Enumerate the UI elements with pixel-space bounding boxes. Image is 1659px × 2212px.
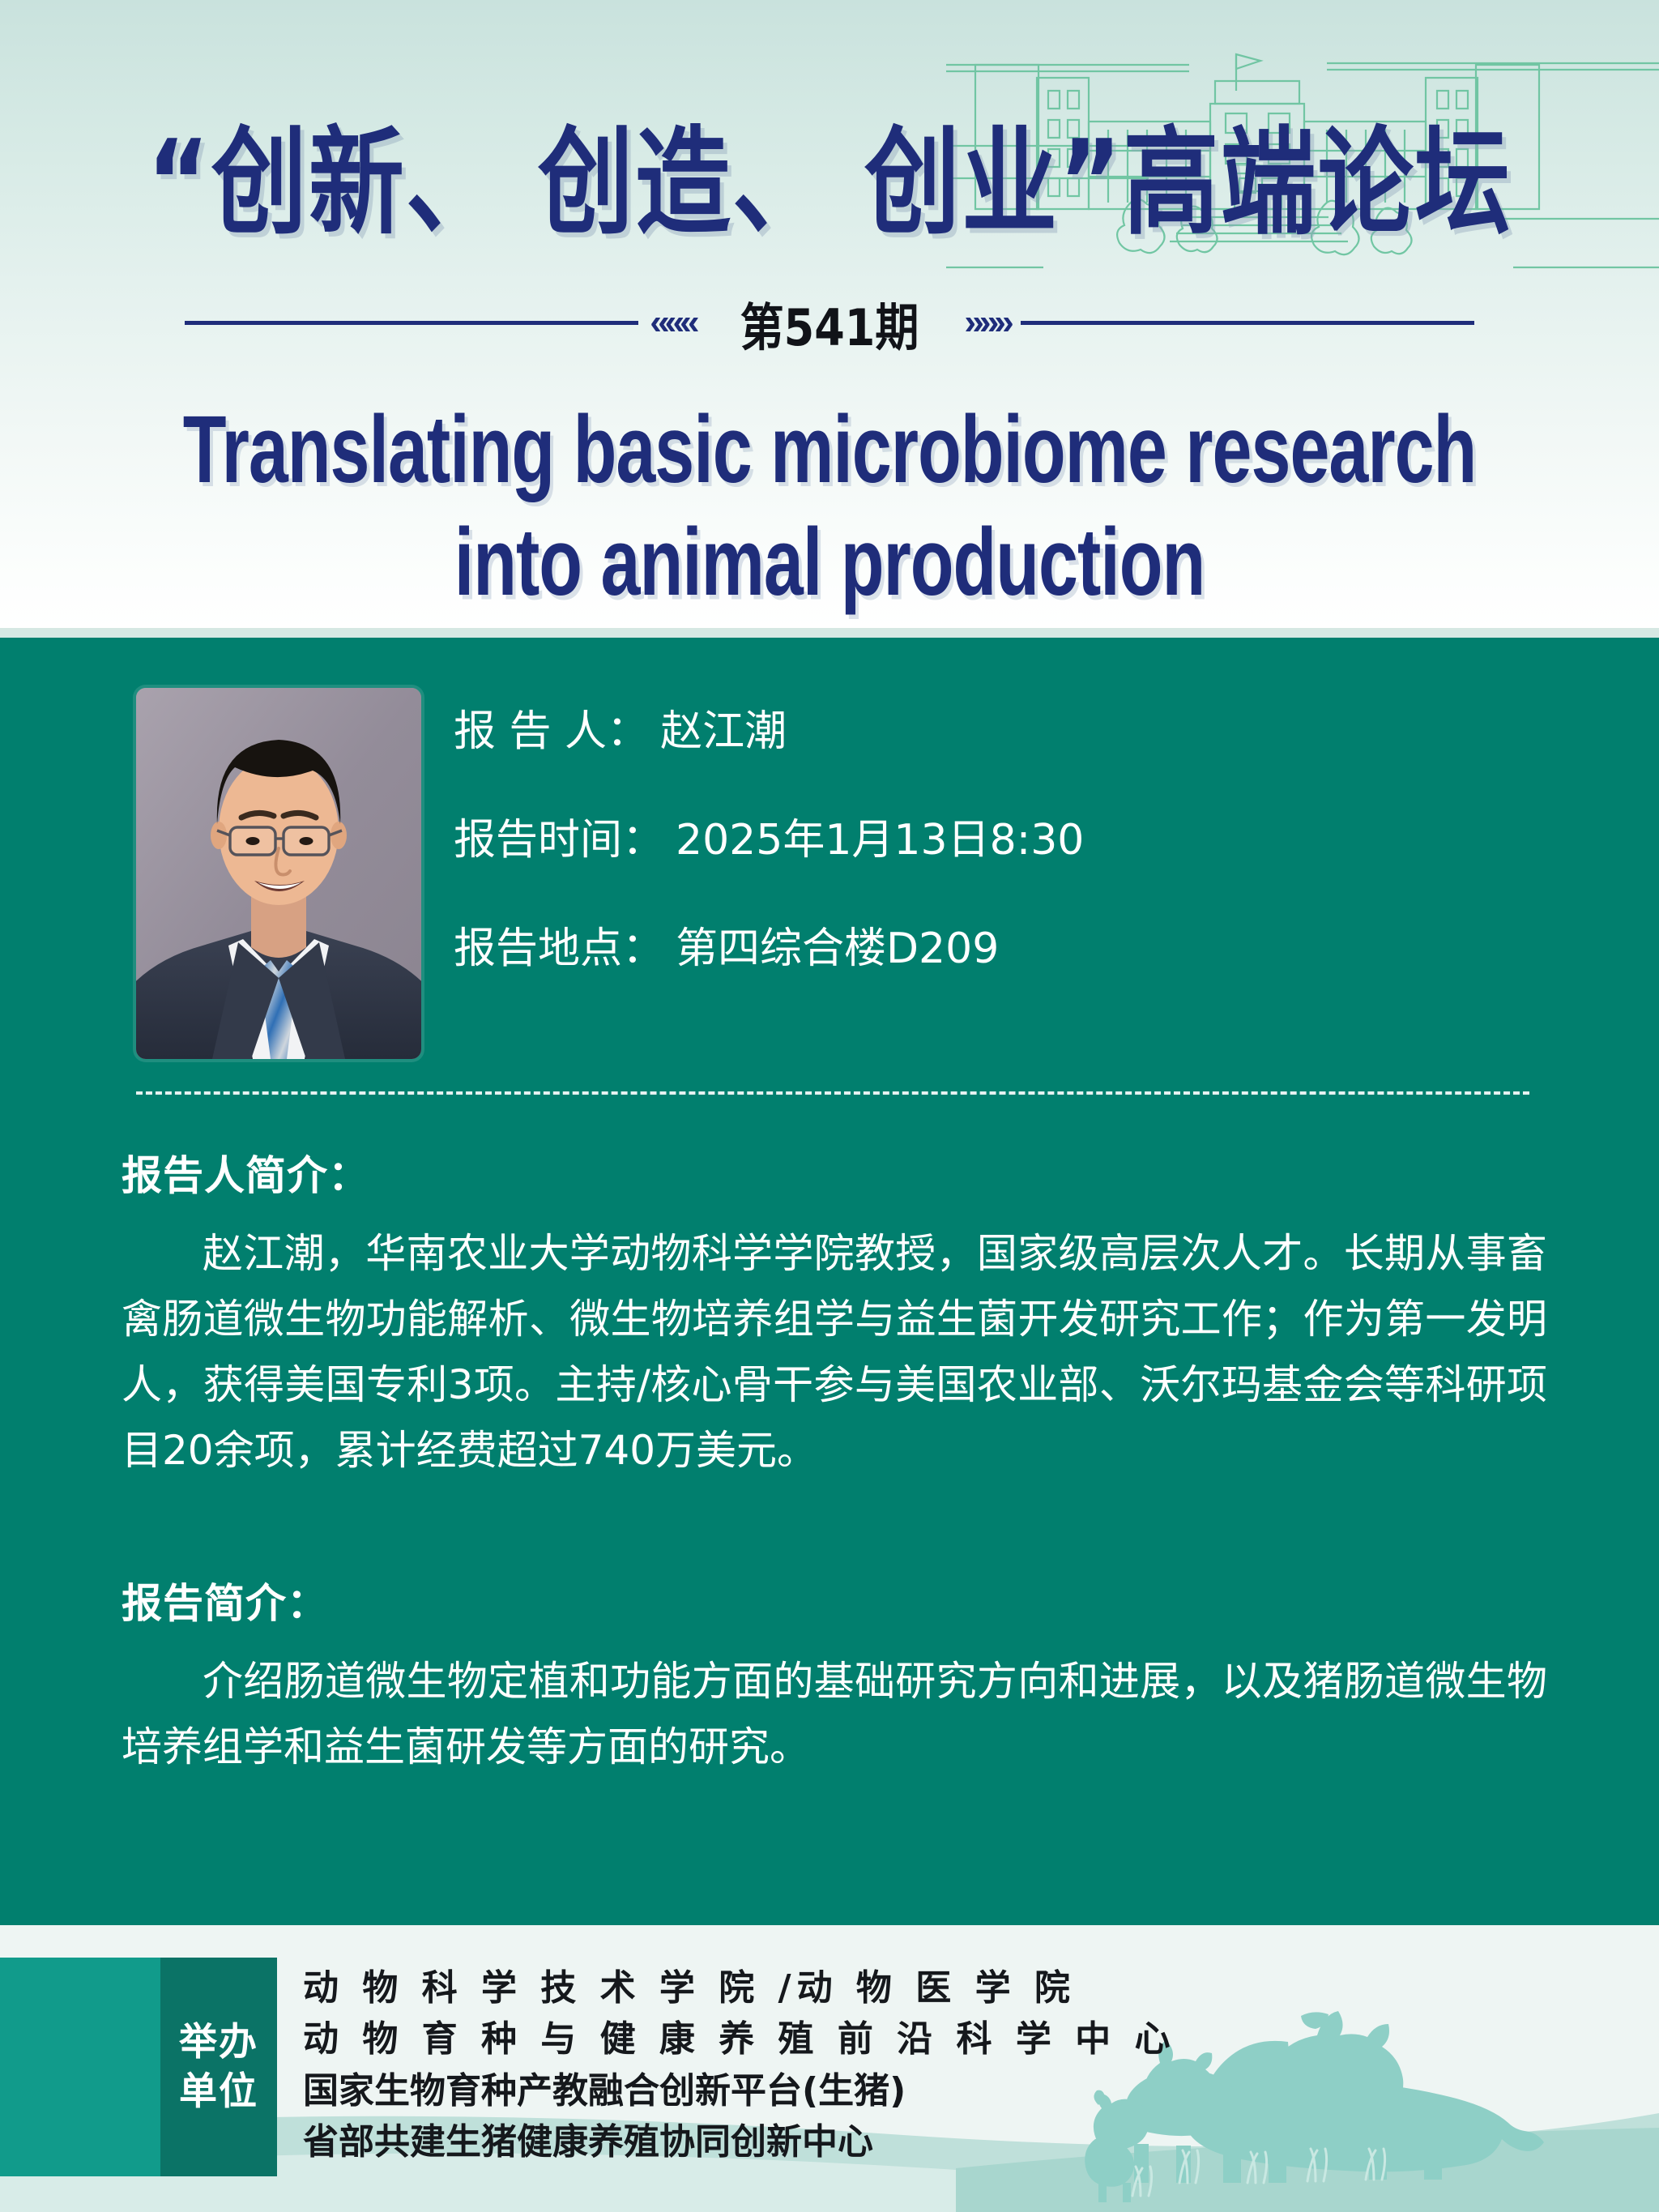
poster-footer: 举办 单位 动 物 科 学 技 术 学 院 /动 物 医 学 院 动 物 育 种… — [0, 1925, 1659, 2212]
speaker-portrait — [136, 688, 421, 1059]
issue-number-row: ««« 第541期 »»» — [0, 294, 1659, 351]
poster-header: “创新、 创造、 创业”高端论坛 ««« 第541期 »»» Translati… — [0, 0, 1659, 628]
lecture-english-title: Translating basic microbiome research in… — [0, 393, 1659, 618]
chevron-left-icon: ««« — [638, 305, 706, 340]
issue-rule-left — [185, 321, 638, 325]
talk-abstract-text: 介绍肠道微生物定植和功能方面的基础研究方向和进展，以及猪肠道微生物培养组学和益生… — [122, 1649, 1547, 1780]
organizer-accent-block — [0, 1958, 160, 2176]
speaker-name-row: 报 告 人：赵江潮 — [454, 711, 1426, 753]
forum-chinese-title: “创新、 创造、 创业”高端论坛 — [0, 88, 1659, 257]
speaker-bio-text: 赵江潮，华南农业大学动物科学学院教授，国家级高层次人才。长期从事畜禽肠道微生物功… — [122, 1221, 1547, 1484]
organizer-item: 省部共建生猪健康养殖协同创新中心 — [303, 2116, 1175, 2167]
poster-body: 报 告 人：赵江潮 报告时间：2025年1月13日8:30 报告地点：第四综合楼… — [0, 638, 1659, 1925]
lecture-title-line-1: Translating basic microbiome research — [0, 393, 1659, 506]
talk-venue-value: 第四综合楼D209 — [676, 925, 999, 973]
speaker-bio-heading: 报告人简介： — [122, 1143, 1547, 1202]
talk-abstract-heading: 报告简介： — [122, 1571, 1547, 1629]
speaker-name-label: 报 告 人： — [454, 707, 649, 756]
organizer-item: 动 物 育 种 与 健 康 养 殖 前 沿 科 学 中 心 — [303, 2013, 1175, 2065]
header-divider-strip — [0, 628, 1659, 638]
organizer-list: 动 物 科 学 技 术 学 院 /动 物 医 学 院 动 物 育 种 与 健 康… — [303, 1962, 1175, 2167]
organizer-label-line-1: 举办 — [179, 2023, 258, 2061]
speaker-meta: 报 告 人：赵江潮 报告时间：2025年1月13日8:30 报告地点：第四综合楼… — [454, 711, 1426, 1036]
talk-abstract-section: 报告简介： 介绍肠道微生物定植和功能方面的基础研究方向和进展，以及猪肠道微生物培… — [122, 1571, 1547, 1780]
chevron-right-icon: »»» — [953, 305, 1020, 340]
issue-rule-right — [1021, 321, 1474, 325]
organizer-label-block: 举办 单位 — [160, 1958, 277, 2176]
issue-number: 第541期 — [706, 285, 953, 360]
talk-time-label: 报告时间： — [454, 816, 664, 865]
speaker-bio-section: 报告人简介： 赵江潮，华南农业大学动物科学学院教授，国家级高层次人才。长期从事畜… — [122, 1143, 1547, 1484]
organizer-label-line-2: 单位 — [179, 2073, 258, 2111]
organizer-item: 动 物 科 学 技 术 学 院 /动 物 医 学 院 — [303, 1962, 1175, 2013]
talk-venue-label: 报告地点： — [454, 925, 664, 973]
speaker-name-value: 赵江潮 — [660, 707, 787, 756]
event-poster: “创新、 创造、 创业”高端论坛 ««« 第541期 »»» Translati… — [0, 0, 1659, 2212]
dashed-divider — [136, 1091, 1529, 1095]
lecture-title-line-2: into animal production — [0, 506, 1659, 618]
talk-time-row: 报告时间：2025年1月13日8:30 — [454, 819, 1426, 861]
talk-venue-row: 报告地点：第四综合楼D209 — [454, 928, 1426, 970]
organizer-item: 国家生物育种产教融合创新平台(生猪) — [303, 2065, 1175, 2116]
talk-time-value: 2025年1月13日8:30 — [676, 816, 1084, 865]
